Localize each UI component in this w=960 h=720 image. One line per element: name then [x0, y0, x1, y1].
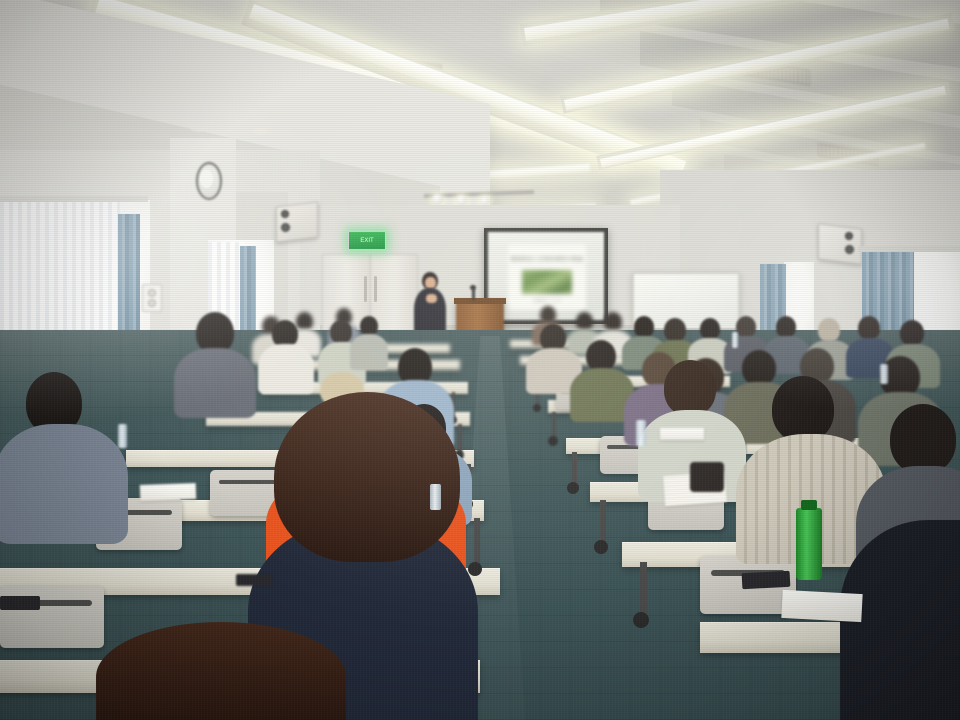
- table-caster: [468, 562, 482, 576]
- laptop: [236, 574, 272, 586]
- audience-body: [174, 348, 256, 418]
- handout-papers: [660, 428, 704, 440]
- presenter-hands: [426, 294, 437, 303]
- audience-head: [736, 316, 756, 338]
- bag: [690, 462, 724, 492]
- audience-body: [0, 424, 128, 544]
- table-leg: [640, 562, 647, 618]
- audience-head: [890, 404, 956, 474]
- handout-papers: [140, 483, 197, 501]
- audience-head: [742, 350, 776, 386]
- front-door-right[interactable]: [370, 254, 418, 332]
- audience-head: [700, 318, 720, 340]
- emergency-exit-sign: EXIT: [348, 231, 386, 250]
- audience-head: [360, 316, 378, 336]
- door-handle[interactable]: [374, 276, 377, 302]
- laptop: [0, 596, 40, 610]
- ceiling-downlight: [418, 122, 434, 129]
- audience-head: [818, 318, 840, 342]
- slide-photo: [522, 270, 572, 294]
- laptop: [742, 571, 791, 589]
- audience-head: [858, 316, 880, 340]
- slide-caption: 生態系サービス: [508, 298, 586, 304]
- wall-clock-face: [200, 170, 213, 188]
- slide-content: 環境保全と生物多様性の取組 生態系サービス: [508, 244, 586, 310]
- bottle-cap: [801, 500, 817, 510]
- audience-head: [604, 312, 622, 332]
- table-caster: [567, 482, 579, 494]
- window-sheer-curtain: [0, 202, 120, 350]
- audience-head: [772, 376, 834, 442]
- green-tea-bottle: [796, 508, 822, 580]
- table-leg: [474, 518, 480, 566]
- water-bottle: [880, 364, 888, 384]
- audience-head: [900, 320, 924, 346]
- table-leg: [572, 452, 577, 486]
- table-leg: [600, 500, 606, 544]
- audience-head: [664, 360, 716, 416]
- audience-head: [776, 316, 796, 338]
- exit-sign-label: EXIT: [360, 238, 373, 244]
- ceiling-downlight: [252, 128, 268, 135]
- audience-head: [634, 316, 654, 338]
- handout-papers: [781, 590, 862, 622]
- water-bottle: [118, 424, 127, 448]
- lecture-hall-photo: EXIT 環境保全と生物多様性の取組 生態系サービス: [0, 0, 960, 720]
- wall-panel-knob[interactable]: [148, 299, 156, 307]
- foreground-hair: [274, 392, 460, 562]
- lectern-top: [454, 298, 506, 304]
- pa-speaker-right: [818, 223, 862, 264]
- table-caster: [633, 612, 649, 628]
- track-spotlight: [432, 194, 443, 205]
- table-caster: [594, 540, 608, 554]
- audience-head: [330, 320, 352, 344]
- ceiling-downlight: [48, 8, 62, 15]
- speaker-cone: [281, 210, 289, 218]
- ceiling-downlight: [190, 124, 208, 132]
- pa-speaker-left: [276, 201, 318, 242]
- table-caster: [533, 404, 541, 412]
- table-caster: [548, 436, 558, 446]
- speaker-cone: [281, 223, 290, 232]
- wall-panel-knob[interactable]: [148, 289, 156, 297]
- audience-body: [350, 334, 388, 370]
- speaker-cone: [845, 232, 853, 240]
- water-bottle: [732, 332, 738, 348]
- microphone-head: [470, 285, 476, 290]
- curtain-rail: [858, 246, 960, 252]
- speaker-cone: [845, 245, 854, 254]
- slide-title: 環境保全と生物多様性の取組: [508, 255, 586, 263]
- audience-body: [258, 344, 314, 394]
- audience-head: [664, 318, 686, 342]
- water-bottle: [430, 484, 441, 510]
- curtain-rail: [0, 196, 148, 202]
- door-handle[interactable]: [364, 276, 367, 302]
- water-bottle: [636, 420, 646, 446]
- chair-backrest-slot: [219, 480, 277, 484]
